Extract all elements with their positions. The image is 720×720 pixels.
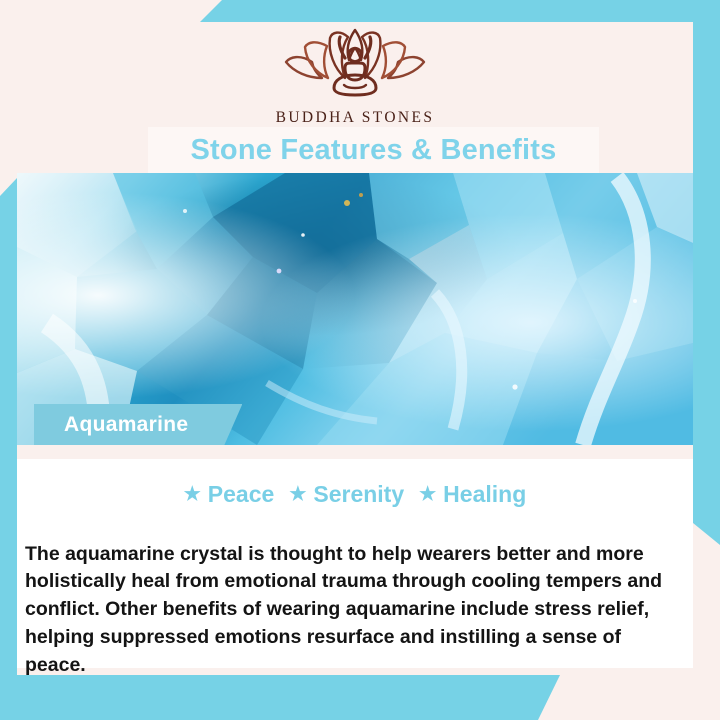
keyword-serenity: ★ Serenity [289, 481, 404, 508]
star-icon: ★ [289, 485, 306, 504]
card-header: BUDDHA STONES Stone Features & Benefits [17, 22, 693, 173]
top-accent-band [200, 0, 720, 22]
keyword-label: Healing [443, 481, 526, 508]
aquamarine-crystal-photo: Aquamarine [17, 173, 693, 445]
left-accent-band [0, 178, 17, 675]
brand-logo: BUDDHA STONES [17, 28, 693, 127]
body-white-sheet: ★ Peace ★ Serenity ★ Healing The aquamar… [17, 459, 693, 668]
card-body: ★ Peace ★ Serenity ★ Healing The aquamar… [17, 445, 693, 675]
keyword-list: ★ Peace ★ Serenity ★ Healing [17, 481, 693, 508]
title-ribbon: Stone Features & Benefits [148, 127, 599, 173]
brand-name: BUDDHA STONES [276, 109, 435, 127]
stone-info-card: BUDDHA STONES Stone Features & Benefits [0, 0, 720, 720]
star-icon: ★ [419, 485, 436, 504]
keyword-healing: ★ Healing [419, 481, 526, 508]
stone-name-label: Aquamarine [64, 413, 188, 437]
bottom-accent-band [0, 675, 560, 720]
keyword-label: Peace [208, 481, 275, 508]
right-accent-band [693, 0, 720, 545]
stone-name-badge: Aquamarine [34, 404, 242, 445]
page-title: Stone Features & Benefits [191, 134, 557, 167]
lotus-meditation-icon [270, 28, 440, 107]
keyword-peace: ★ Peace [184, 481, 275, 508]
star-icon: ★ [184, 485, 201, 504]
keyword-label: Serenity [313, 481, 404, 508]
stone-description: The aquamarine crystal is thought to hel… [25, 541, 675, 680]
